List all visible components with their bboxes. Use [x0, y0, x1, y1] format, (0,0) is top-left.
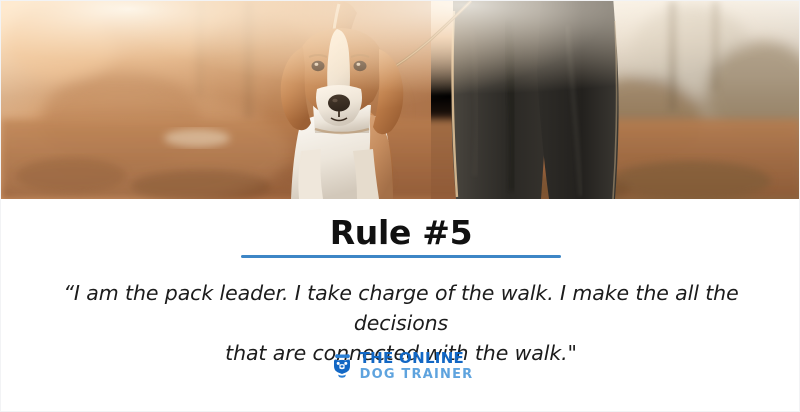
hero-photo-illustration: [1, 1, 800, 199]
quote-line-1: “I am the pack leader. I take charge of …: [63, 281, 738, 335]
hero-photo: [1, 1, 800, 199]
quote-card: Rule #5 “I am the pack leader. I take ch…: [0, 0, 800, 412]
brand-name-primary: THE ONLINE: [360, 351, 474, 366]
brand-logo[interactable]: THE ONLINE DOG TRAINER: [1, 351, 800, 381]
dog-head-icon: [329, 353, 355, 379]
brand-name-secondary: DOG TRAINER: [360, 368, 474, 381]
title-divider: [241, 255, 561, 258]
brand-logo-text: THE ONLINE DOG TRAINER: [360, 351, 474, 381]
page-title: Rule #5: [1, 213, 800, 252]
content-area: Rule #5 “I am the pack leader. I take ch…: [1, 199, 800, 412]
brand-logo-inner: THE ONLINE DOG TRAINER: [329, 351, 474, 381]
